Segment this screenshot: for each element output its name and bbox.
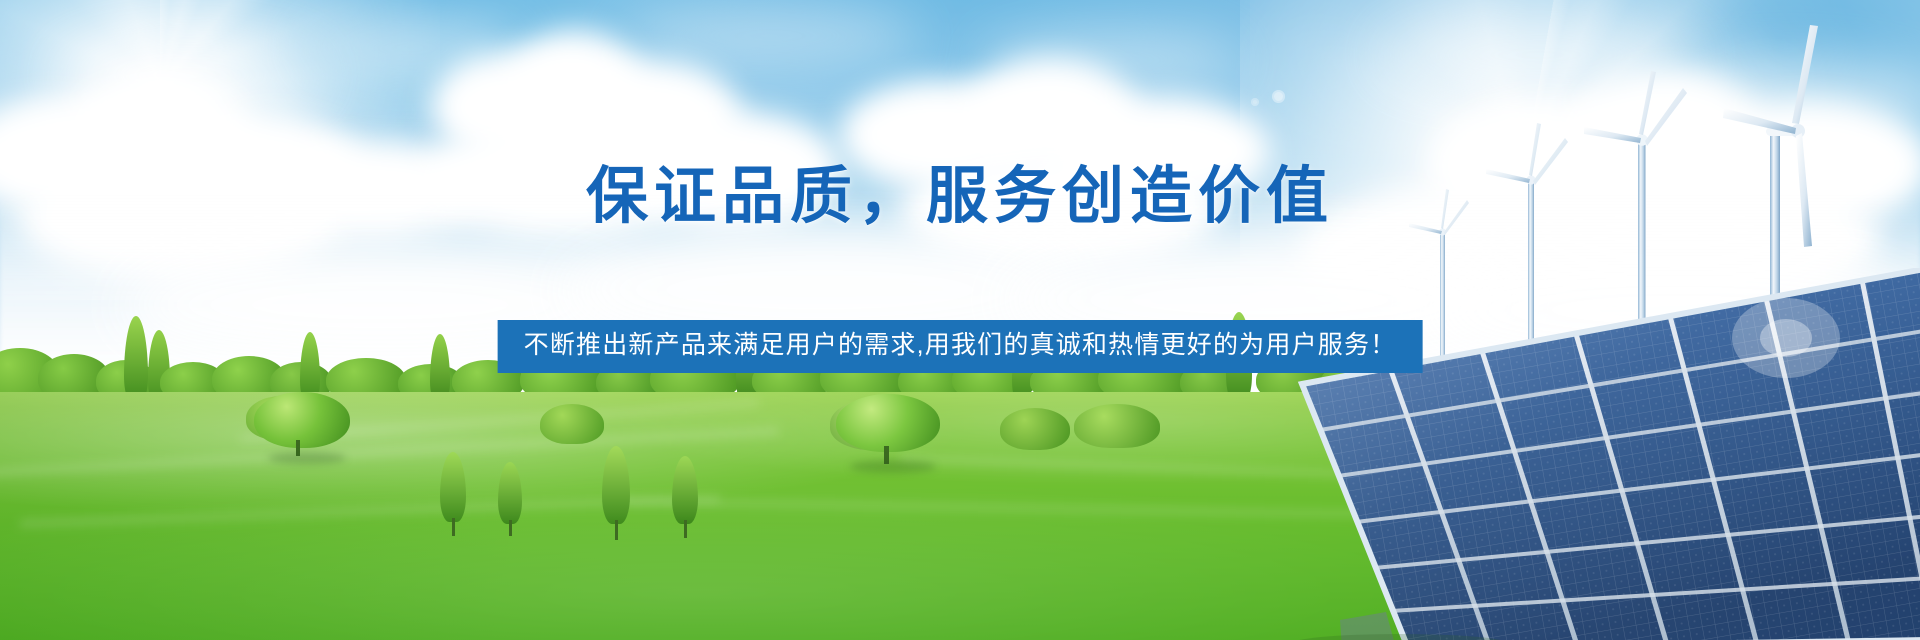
- lone-tree-shadow: [268, 452, 346, 464]
- sapling-trunk: [509, 520, 512, 536]
- meadow-shrub: [1074, 404, 1160, 448]
- meadow-shrub: [540, 404, 604, 444]
- lone-tree-canopy: [254, 392, 350, 448]
- page-title: 保证品质，服务创造价值: [0, 166, 1920, 228]
- sapling-trunk: [615, 520, 618, 540]
- hero-banner: 保证品质，服务创造价值 不断推出新产品来满足用户的需求,用我们的真诚和热情更好的…: [0, 0, 1920, 640]
- subtitle-text: 不断推出新产品来满足用户的需求,用我们的真诚和热情更好的为用户服务！: [524, 331, 1397, 360]
- lone-tree-canopy: [836, 394, 940, 452]
- sapling-trunk: [452, 518, 455, 536]
- sapling-trunk: [684, 520, 687, 538]
- subtitle-banner-bar: 不断推出新产品来满足用户的需求,用我们的真诚和热情更好的为用户服务！: [498, 320, 1423, 373]
- meadow-shrub: [1000, 408, 1070, 450]
- lone-tree-shadow: [850, 460, 936, 473]
